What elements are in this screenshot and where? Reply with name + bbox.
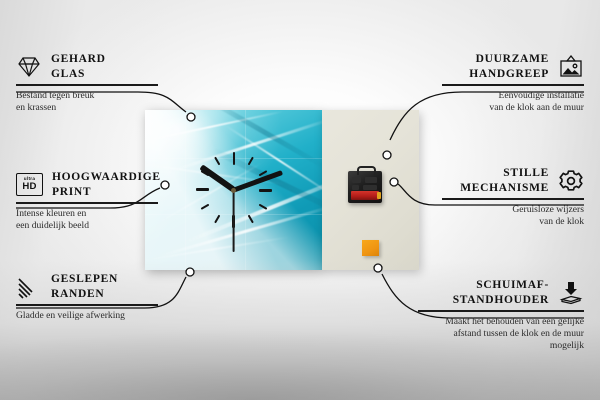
- mechanism-detail: [352, 185, 359, 190]
- feature-geslepen-randen[interactable]: GESLEPEN RANDEN Gladde en veilige afwerk…: [16, 272, 158, 322]
- feature-divider: [16, 84, 158, 86]
- feature-stille-mechanisme[interactable]: STILLE MECHANISME Geruisloze wijzers van…: [442, 166, 584, 228]
- foam-spacer-pad: [362, 240, 379, 256]
- feature-divider: [442, 84, 584, 86]
- feature-description: Eenvoudige installatie van de klok aan d…: [442, 90, 584, 115]
- feature-divider: [418, 310, 584, 312]
- feature-head: GEHARD GLAS: [16, 52, 158, 81]
- mechanism-detail: [352, 177, 361, 183]
- feature-divider: [16, 202, 158, 204]
- diamond-icon: [16, 55, 42, 79]
- mechanism-hanger-hook: [357, 166, 376, 175]
- bevelled-edges-icon: [16, 275, 42, 299]
- feature-description: Geruisloze wijzers van de klok: [442, 204, 584, 229]
- feature-divider: [442, 198, 584, 200]
- feature-head: DUURZAME HANDGREEP: [442, 52, 584, 81]
- feature-title: SCHUIMAF- STANDHOUDER: [453, 278, 549, 307]
- feature-title: STILLE MECHANISME: [460, 166, 549, 195]
- feature-description: Intense kleuren en een duidelijk beeld: [16, 208, 158, 233]
- clock-center-pin: [231, 188, 236, 193]
- clock-front-photo: [145, 110, 322, 270]
- mechanism-detail: [363, 185, 377, 190]
- feature-description: Bestand tegen breuk en krassen: [16, 90, 158, 115]
- feature-description: Gladde en veilige afwerking: [16, 310, 158, 322]
- foam-spacer-icon: [558, 281, 584, 305]
- feature-head: STILLE MECHANISME: [442, 166, 584, 195]
- feature-gehard-glas[interactable]: GEHARD GLAS Bestand tegen breuk en krass…: [16, 52, 158, 114]
- feature-title: HOOGWAARDIGE PRINT: [52, 170, 161, 199]
- feature-title: DUURZAME HANDGREEP: [469, 52, 549, 81]
- mechanism-battery: [351, 191, 379, 200]
- feature-hoogwaardige-print[interactable]: ultra HD HOOGWAARDIGE PRINT Intense kleu…: [16, 170, 158, 232]
- feature-title: GEHARD GLAS: [51, 52, 106, 81]
- picture-hanger-icon: [558, 55, 584, 79]
- infographic-canvas: GEHARD GLAS Bestand tegen breuk en krass…: [0, 0, 600, 400]
- feature-duurzame-handgreep[interactable]: DUURZAME HANDGREEP Eenvoudige installati…: [442, 52, 584, 114]
- gear-icon: [558, 169, 584, 193]
- feature-divider: [16, 304, 158, 306]
- clock-second-hand: [233, 190, 235, 252]
- feature-head: GESLEPEN RANDEN: [16, 272, 158, 301]
- feature-schuimafstandhouder[interactable]: SCHUIMAF- STANDHOUDER Maakt het behouden…: [418, 278, 584, 353]
- ultra-hd-icon: ultra HD: [16, 173, 43, 196]
- feature-head: SCHUIMAF- STANDHOUDER: [418, 278, 584, 307]
- feature-description: Maakt het behouden van een gelijke afsta…: [418, 316, 584, 353]
- mechanism-detail: [365, 177, 377, 183]
- feature-head: ultra HD HOOGWAARDIGE PRINT: [16, 170, 158, 199]
- feature-title: GESLEPEN RANDEN: [51, 272, 118, 301]
- clock-mechanism: [348, 171, 382, 203]
